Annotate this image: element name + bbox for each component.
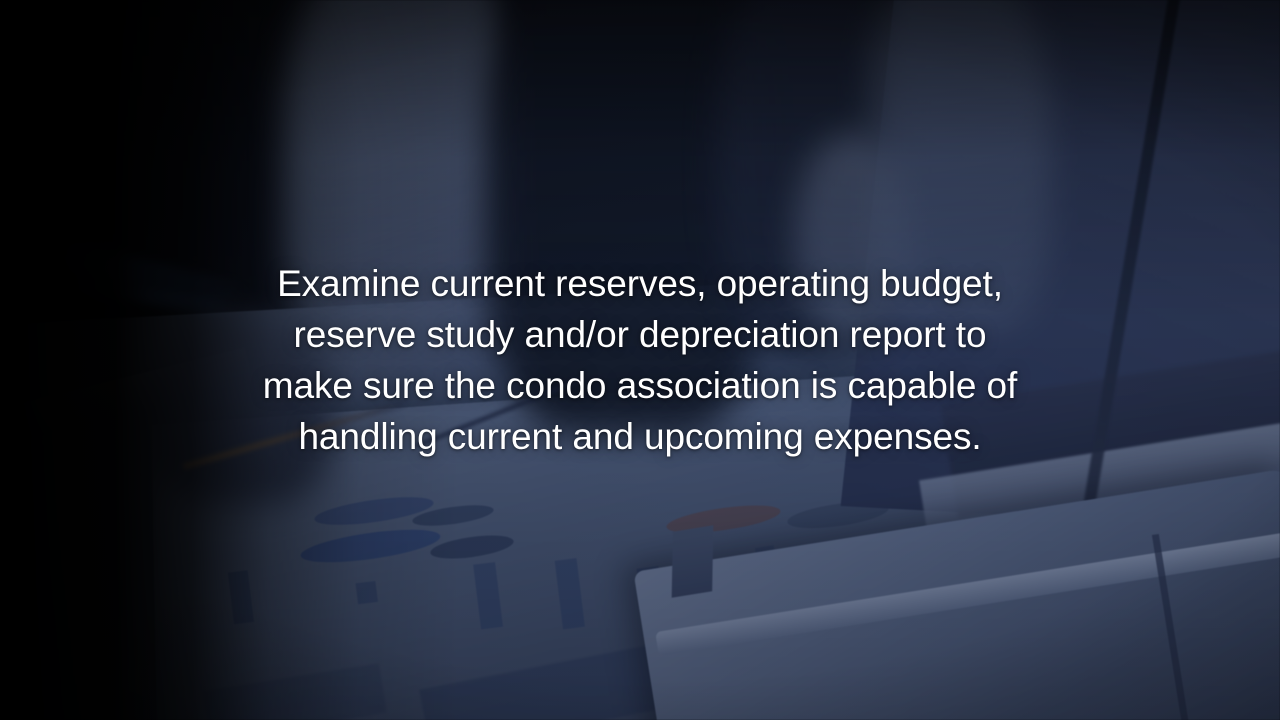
- caption-line-1: Examine current reserves, operating budg…: [0, 258, 1280, 309]
- caption-line-2: reserve study and/or depreciation report…: [0, 309, 1280, 360]
- caption-text: Examine current reserves, operating budg…: [0, 258, 1280, 462]
- caption-line-3: make sure the condo association is capab…: [0, 360, 1280, 411]
- caption-line-4: handling current and upcoming expenses.: [0, 411, 1280, 462]
- video-frame: Examine current reserves, operating budg…: [0, 0, 1280, 720]
